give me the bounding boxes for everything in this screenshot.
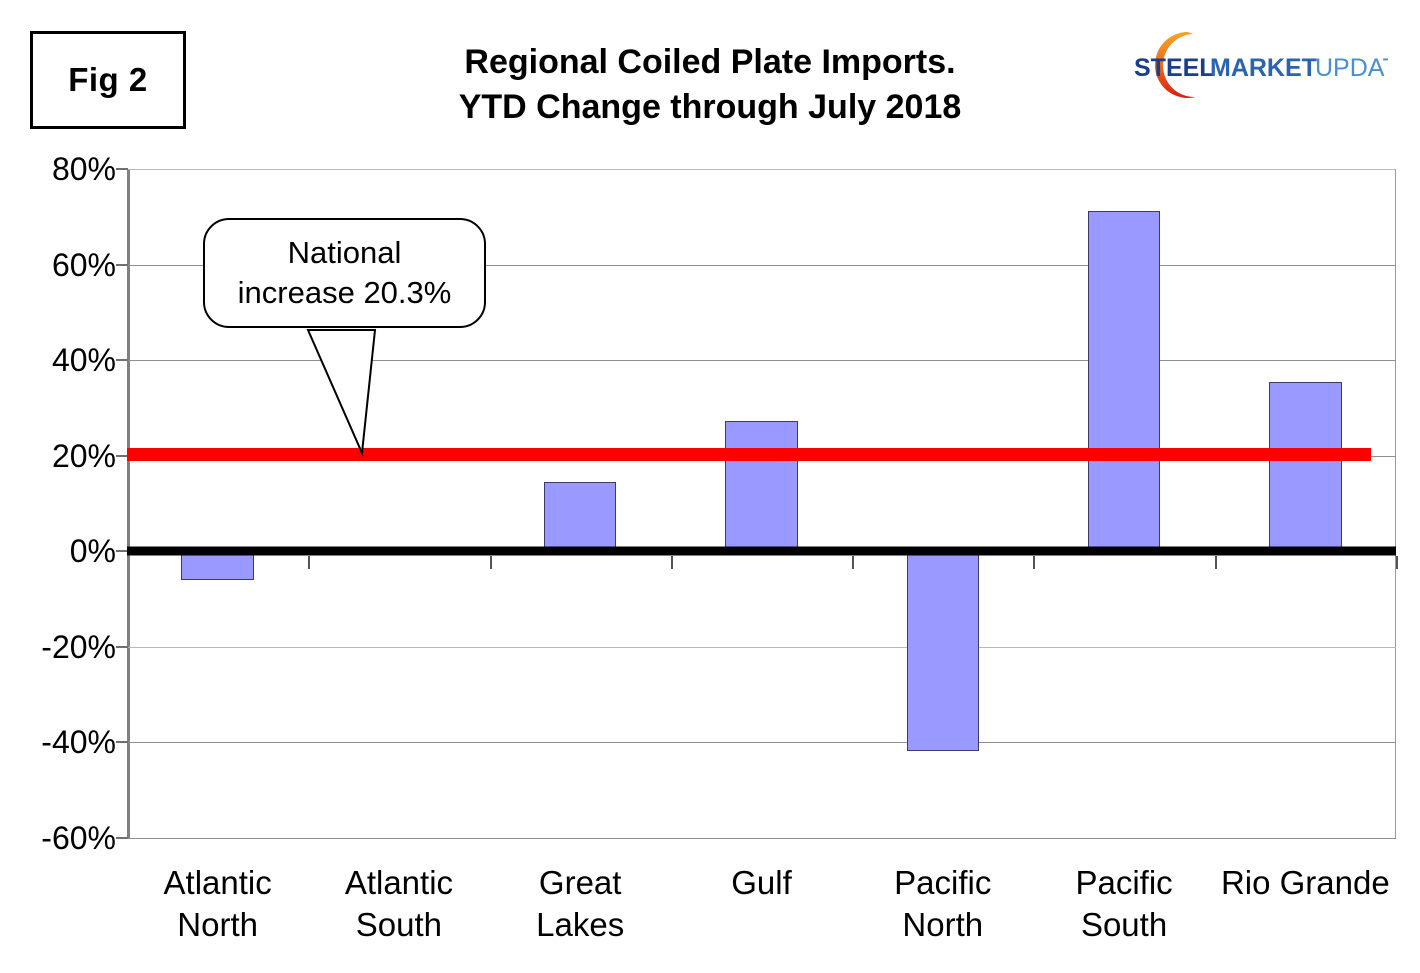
x-axis-tick — [1215, 556, 1217, 569]
x-axis-category-label: Rio Grande — [1215, 862, 1396, 904]
gridline — [127, 647, 1396, 648]
y-axis-tick-label: 20% — [0, 440, 116, 472]
y-axis-tick-label: -40% — [0, 726, 116, 758]
category-label-line: North — [852, 904, 1033, 946]
category-label-line: Pacific — [852, 862, 1033, 904]
y-axis-tick-label: 80% — [0, 153, 116, 185]
y-axis-tick-label: 60% — [0, 249, 116, 281]
bar — [544, 482, 617, 551]
national-increase-callout: National increase 20.3% — [203, 218, 486, 328]
x-axis-tick — [308, 556, 310, 569]
y-axis-tick — [116, 837, 128, 839]
category-label-line: South — [1033, 904, 1214, 946]
y-axis-tick — [116, 168, 128, 170]
x-axis-category-label: GreatLakes — [490, 862, 671, 946]
x-axis-category-label: Gulf — [671, 862, 852, 904]
bar — [725, 421, 798, 551]
gridline — [127, 742, 1396, 743]
bar — [907, 551, 980, 751]
y-axis-tick-label: 0% — [0, 535, 116, 567]
category-label-line: Pacific — [1033, 862, 1214, 904]
category-label-line: Atlantic — [308, 862, 489, 904]
bar — [1269, 382, 1342, 552]
category-label-line: Atlantic — [127, 862, 308, 904]
chart-page: Fig 2 Regional Coiled Plate Imports. YTD… — [0, 0, 1420, 973]
zero-baseline — [127, 547, 1396, 556]
callout-line-2: increase 20.3% — [238, 273, 452, 313]
x-axis-category-label: PacificSouth — [1033, 862, 1214, 946]
plot-container: 80%60%40%20%0%-20%-40%-60% AtlanticNorth… — [0, 0, 1420, 973]
category-label-line: Gulf — [671, 862, 852, 904]
callout-line-1: National — [288, 233, 402, 273]
category-label-line: Rio Grande — [1215, 862, 1396, 904]
x-axis-category-label: AtlanticNorth — [127, 862, 308, 946]
x-axis-tick — [1033, 556, 1035, 569]
category-label-line: Great — [490, 862, 671, 904]
y-axis-tick — [116, 646, 128, 648]
x-axis-category-label: PacificNorth — [852, 862, 1033, 946]
y-axis-tick-label: -60% — [0, 822, 116, 854]
bar — [1088, 211, 1161, 551]
x-axis-tick — [671, 556, 673, 569]
y-axis-tick — [116, 264, 128, 266]
gridline — [127, 360, 1396, 361]
national-average-line — [127, 448, 1371, 461]
x-axis-category-label: AtlanticSouth — [308, 862, 489, 946]
y-axis-tick-label: 40% — [0, 344, 116, 376]
y-axis-tick — [116, 741, 128, 743]
gridline — [127, 169, 1396, 170]
gridline — [127, 838, 1396, 839]
x-axis-tick — [490, 556, 492, 569]
category-label-line: Lakes — [490, 904, 671, 946]
y-axis-tick-label: -20% — [0, 631, 116, 663]
x-axis-tick — [1396, 556, 1398, 569]
y-axis-tick — [116, 359, 128, 361]
category-label-line: North — [127, 904, 308, 946]
x-axis-tick — [852, 556, 854, 569]
category-label-line: South — [308, 904, 489, 946]
